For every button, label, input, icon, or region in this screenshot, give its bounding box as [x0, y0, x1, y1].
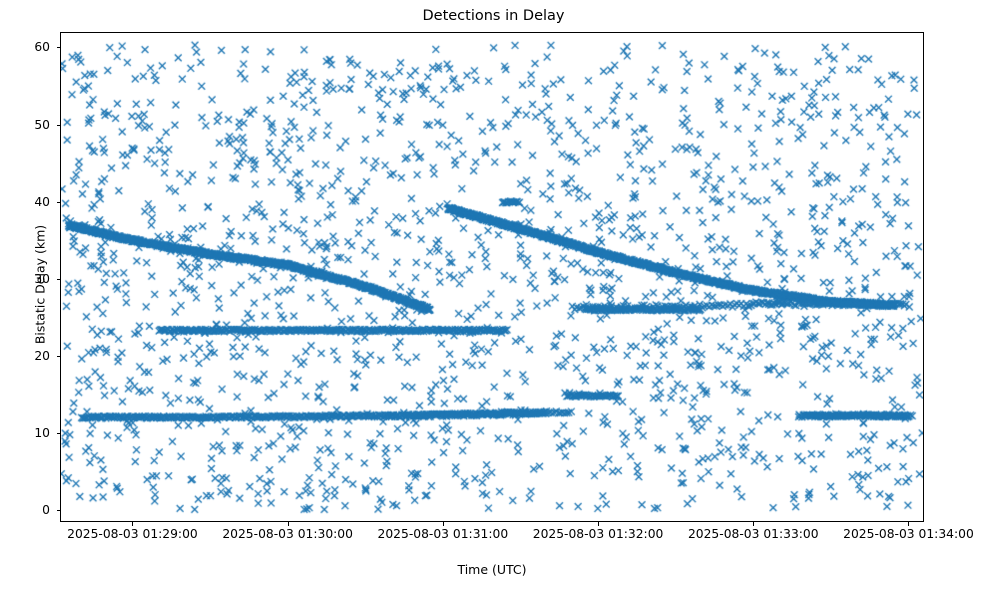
x-tick-label: 2025-08-03 01:31:00: [378, 527, 509, 541]
y-tick-label: 30: [0, 272, 50, 286]
y-tick-mark: [57, 125, 61, 126]
x-tick-label: 2025-08-03 01:32:00: [533, 527, 664, 541]
y-tick-label: 60: [0, 40, 50, 54]
y-tick-mark: [57, 279, 61, 280]
y-tick-mark: [57, 202, 61, 203]
x-tick-label: 2025-08-03 01:29:00: [67, 527, 198, 541]
x-tick-label: 2025-08-03 01:30:00: [222, 527, 353, 541]
x-tick-label: 2025-08-03 01:33:00: [688, 527, 819, 541]
x-axis-label: Time (UTC): [60, 562, 924, 577]
x-tick-mark: [908, 522, 909, 526]
x-tick-mark: [443, 522, 444, 526]
y-tick-label: 10: [0, 426, 50, 440]
matplotlib-figure: Detections in Delay Bistatic Delay (km) …: [0, 0, 987, 590]
y-tick-label: 20: [0, 349, 50, 363]
plot-axes: [60, 32, 924, 522]
y-tick-label: 40: [0, 195, 50, 209]
x-tick-label: 2025-08-03 01:34:00: [843, 527, 974, 541]
scatter-plot-canvas: [61, 33, 923, 521]
y-tick-mark: [57, 510, 61, 511]
y-tick-label: 0: [0, 503, 50, 517]
y-tick-label: 50: [0, 118, 50, 132]
x-tick-mark: [288, 522, 289, 526]
y-tick-mark: [57, 433, 61, 434]
y-tick-mark: [57, 356, 61, 357]
chart-title: Detections in Delay: [0, 8, 987, 24]
y-tick-mark: [57, 47, 61, 48]
x-tick-mark: [753, 522, 754, 526]
x-tick-mark: [598, 522, 599, 526]
x-tick-mark: [132, 522, 133, 526]
